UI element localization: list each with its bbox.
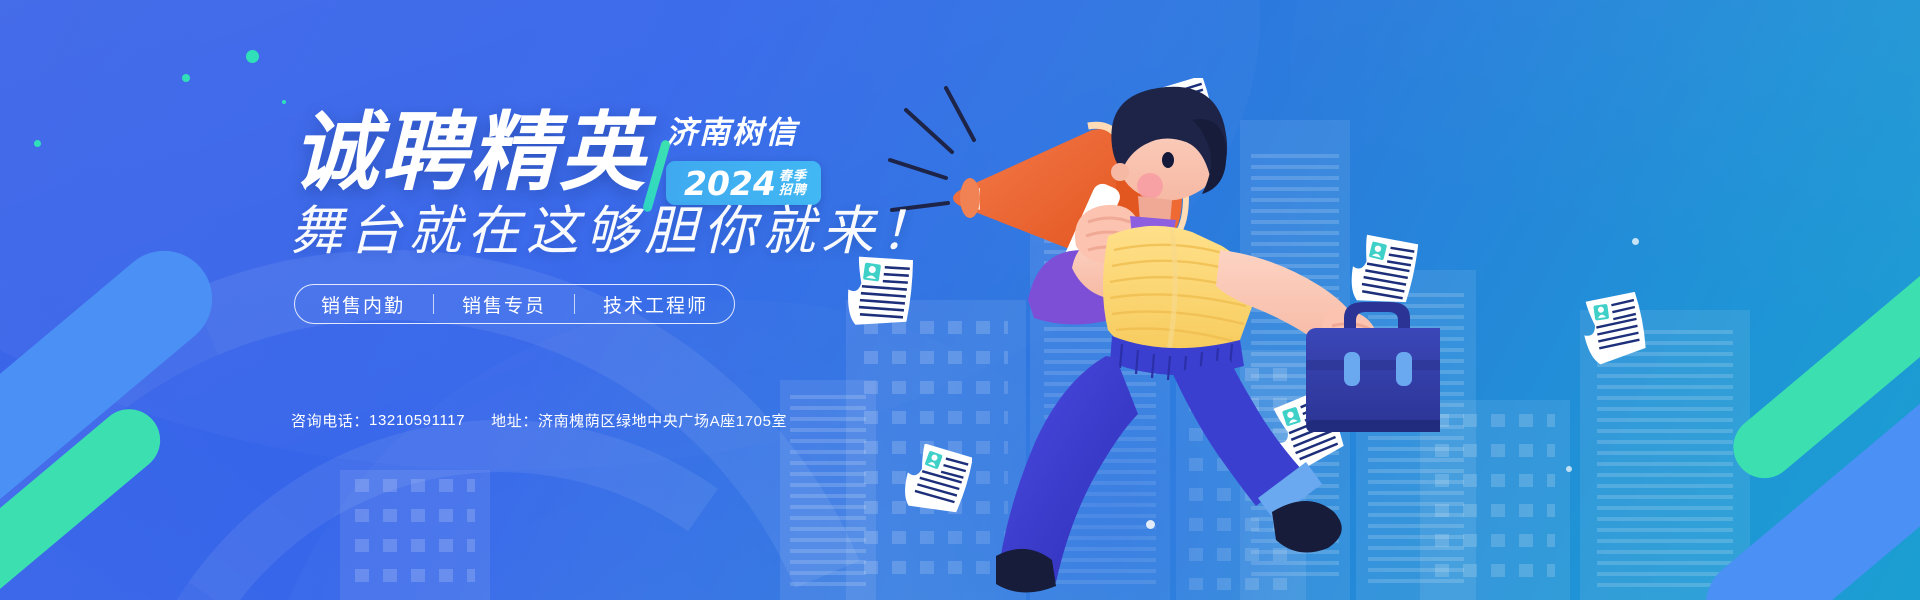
resume-paper-icon	[1580, 292, 1650, 370]
phone-number: 13210591117	[369, 412, 465, 429]
job-tag-sales-specialist[interactable]: 销售专员	[462, 291, 546, 318]
badge-season-line2: 招聘	[779, 183, 807, 197]
contact-footer: 咨询电话： 13210591117 地址： 济南槐荫区绿地中央广场A座1705室	[291, 410, 787, 431]
building-silhouette	[1420, 400, 1570, 600]
character-head	[1111, 87, 1227, 201]
address-value: 济南槐荫区绿地中央广场A座1705室	[538, 410, 787, 431]
brand-block: 济南树信 2024 春季 招聘	[666, 110, 821, 205]
cheek	[1137, 173, 1163, 199]
job-tag-technical-engineer[interactable]: 技术工程师	[603, 291, 708, 318]
tag-divider	[574, 294, 575, 314]
phone-label: 咨询电话：	[291, 410, 369, 431]
decor-dot	[1632, 238, 1639, 245]
brand-name: 济南树信	[666, 118, 821, 149]
page-title: 诚聘精英	[292, 110, 648, 196]
job-tag-sales-assistant[interactable]: 销售内勤	[321, 291, 405, 318]
eye	[1162, 152, 1174, 168]
headline-row: 诚聘精英 济南树信 2024 春季 招聘	[292, 110, 821, 205]
recruitment-banner: 诚聘精英 济南树信 2024 春季 招聘 舞台就在这够胆你就来！ 销售内勤 销售…	[0, 0, 1920, 600]
year-badge: 2024 春季 招聘	[666, 161, 821, 205]
badge-season-line1: 春季	[779, 169, 807, 183]
badge-season: 春季 招聘	[779, 169, 807, 196]
legs	[996, 356, 1342, 593]
decor-dot	[1566, 466, 1572, 472]
tag-divider	[433, 294, 434, 314]
address-label: 地址：	[491, 410, 538, 431]
badge-year: 2024	[684, 167, 776, 200]
shoe	[1272, 501, 1342, 553]
job-tags-pill[interactable]: 销售内勤 销售专员 技术工程师	[294, 284, 735, 324]
banner-content: 诚聘精英 济南树信 2024 春季 招聘 舞台就在这够胆你就来！ 销售内勤 销售…	[0, 0, 960, 600]
subtitle: 舞台就在这够胆你就来！	[290, 205, 939, 258]
